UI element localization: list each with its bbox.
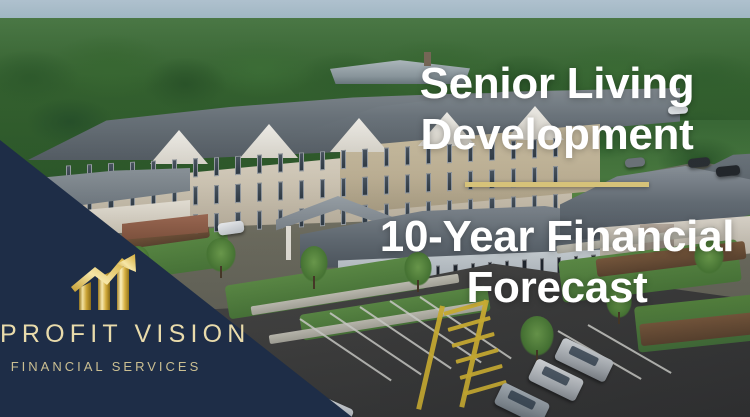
title-line-1: Senior Living <box>376 58 738 109</box>
subtitle-line-1: 10-Year Financial <box>376 211 738 262</box>
company-logo: PROFIT VISION FINANCIAL SERVICES <box>0 252 212 373</box>
canopy-column <box>286 226 291 260</box>
subtitle-line-2: Forecast <box>376 262 738 313</box>
title-line-2: Development <box>376 109 738 160</box>
presentation-title-slide: PROFIT VISION FINANCIAL SERVICES Senior … <box>0 0 750 417</box>
logo-company-name: PROFIT VISION <box>0 322 212 347</box>
growth-bar-chart-arrow-icon <box>69 252 143 314</box>
gold-divider-rule <box>465 182 649 187</box>
logo-tagline: FINANCIAL SERVICES <box>0 360 212 373</box>
title-block: Senior Living Development 10-Year Financ… <box>376 58 738 313</box>
